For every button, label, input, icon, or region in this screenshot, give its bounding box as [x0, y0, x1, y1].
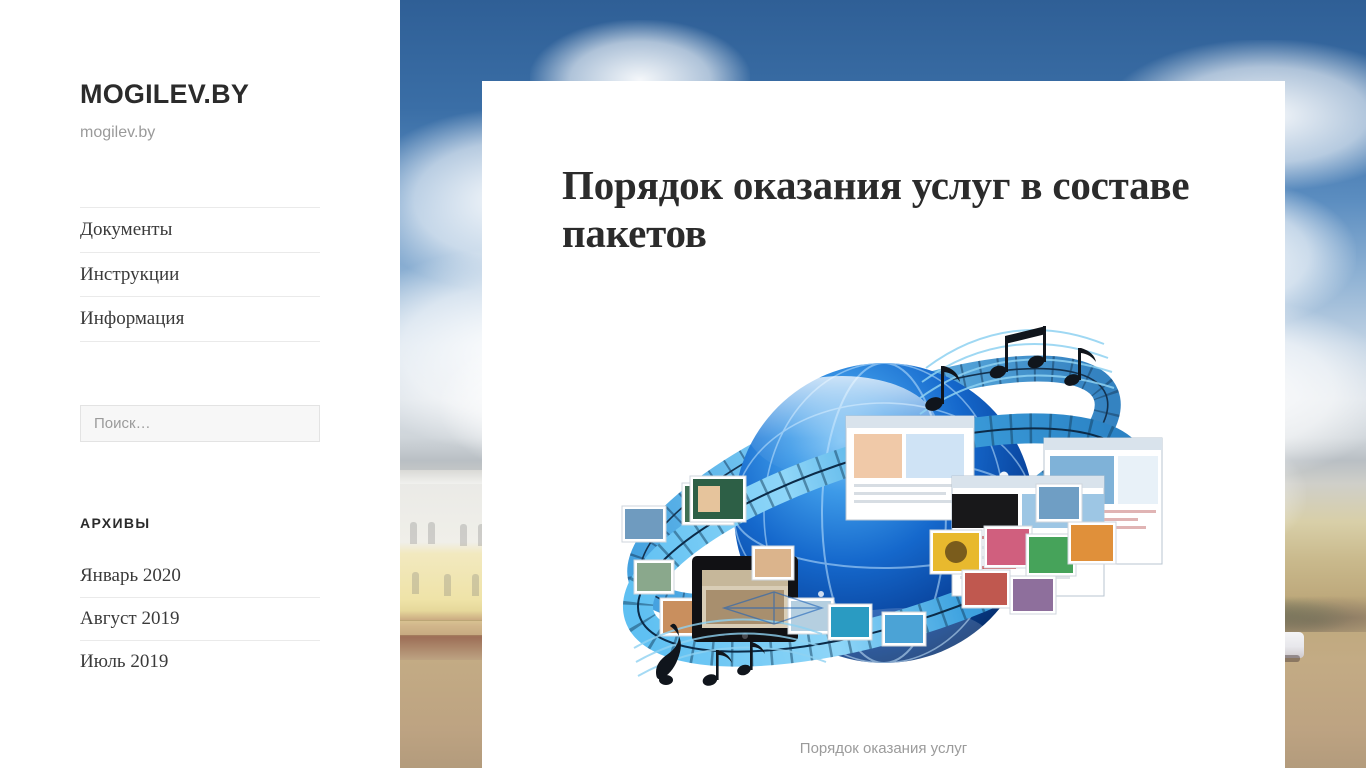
page-root: MOGILEV.BY mogilev.by Документы Инструкц…: [0, 0, 1366, 768]
building-window: [410, 522, 417, 544]
nav-item-instructions[interactable]: Инструкции: [80, 252, 320, 297]
floating-photo-thumbnail: [752, 546, 794, 580]
nav-link-information[interactable]: Информация: [80, 297, 320, 341]
archive-link-august-2019[interactable]: Август 2019: [80, 598, 320, 640]
site-description: mogilev.by: [80, 122, 320, 144]
featured-image-figure: Порядок оказания услуг: [562, 308, 1205, 757]
floating-photo-thumbnail: [1010, 576, 1056, 614]
primary-navigation: Документы Инструкции Информация: [0, 207, 400, 342]
nav-link-documents[interactable]: Документы: [80, 208, 320, 252]
archive-link-july-2019[interactable]: Июль 2019: [80, 641, 320, 683]
floating-photo-thumbnail: [788, 598, 834, 634]
featured-image-caption: Порядок оказания услуг: [562, 740, 1205, 757]
floating-photo-thumbnail: [930, 530, 982, 574]
archives-widget: АРХИВЫ Январь 2020 Август 2019 Июль 2019: [0, 515, 400, 682]
floating-photo-thumbnail: [690, 476, 746, 522]
list-item[interactable]: Январь 2020: [80, 555, 320, 597]
site-title[interactable]: MOGILEV.BY: [80, 78, 320, 110]
building-roof: [400, 470, 490, 484]
search-input[interactable]: [80, 405, 320, 442]
archives-widget-title: АРХИВЫ: [80, 515, 320, 531]
building-window: [460, 524, 467, 546]
floating-photo-thumbnail: [1036, 484, 1082, 522]
sidebar: MOGILEV.BY mogilev.by Документы Инструкц…: [0, 0, 400, 768]
site-branding: MOGILEV.BY mogilev.by: [0, 0, 400, 145]
floating-photo-thumbnail: [882, 612, 926, 646]
floating-photo-thumbnail: [984, 526, 1032, 568]
building-window: [412, 572, 419, 594]
building-window: [444, 574, 451, 596]
list-item[interactable]: Август 2019: [80, 597, 320, 640]
building-window: [428, 522, 435, 544]
building-fence: [400, 620, 490, 636]
nav-item-information[interactable]: Информация: [80, 296, 320, 342]
featured-image-globe-multimedia[interactable]: [574, 308, 1194, 718]
floating-photo-thumbnail: [1068, 522, 1116, 564]
floating-photo-thumbnail: [622, 506, 666, 542]
list-item[interactable]: Июль 2019: [80, 640, 320, 683]
nav-list: Документы Инструкции Информация: [80, 207, 320, 342]
nav-link-instructions[interactable]: Инструкции: [80, 253, 320, 297]
floating-photo-thumbnail: [634, 560, 674, 594]
floating-photo-thumbnail: [962, 570, 1010, 608]
search-widget: [0, 405, 400, 442]
content-area: Порядок оказания услуг в составе пакетов: [400, 0, 1366, 768]
nav-item-documents[interactable]: Документы: [80, 207, 320, 252]
archive-link-january-2020[interactable]: Январь 2020: [80, 555, 320, 597]
floating-photo-thumbnail: [828, 604, 872, 640]
archive-list: Январь 2020 Август 2019 Июль 2019: [80, 555, 320, 682]
post-card: Порядок оказания услуг в составе пакетов: [482, 81, 1285, 768]
building-shape: [400, 470, 490, 660]
page-title: Порядок оказания услуг в составе пакетов: [562, 161, 1205, 258]
building-window: [472, 574, 479, 596]
post-inner: Порядок оказания услуг в составе пакетов: [482, 81, 1285, 757]
